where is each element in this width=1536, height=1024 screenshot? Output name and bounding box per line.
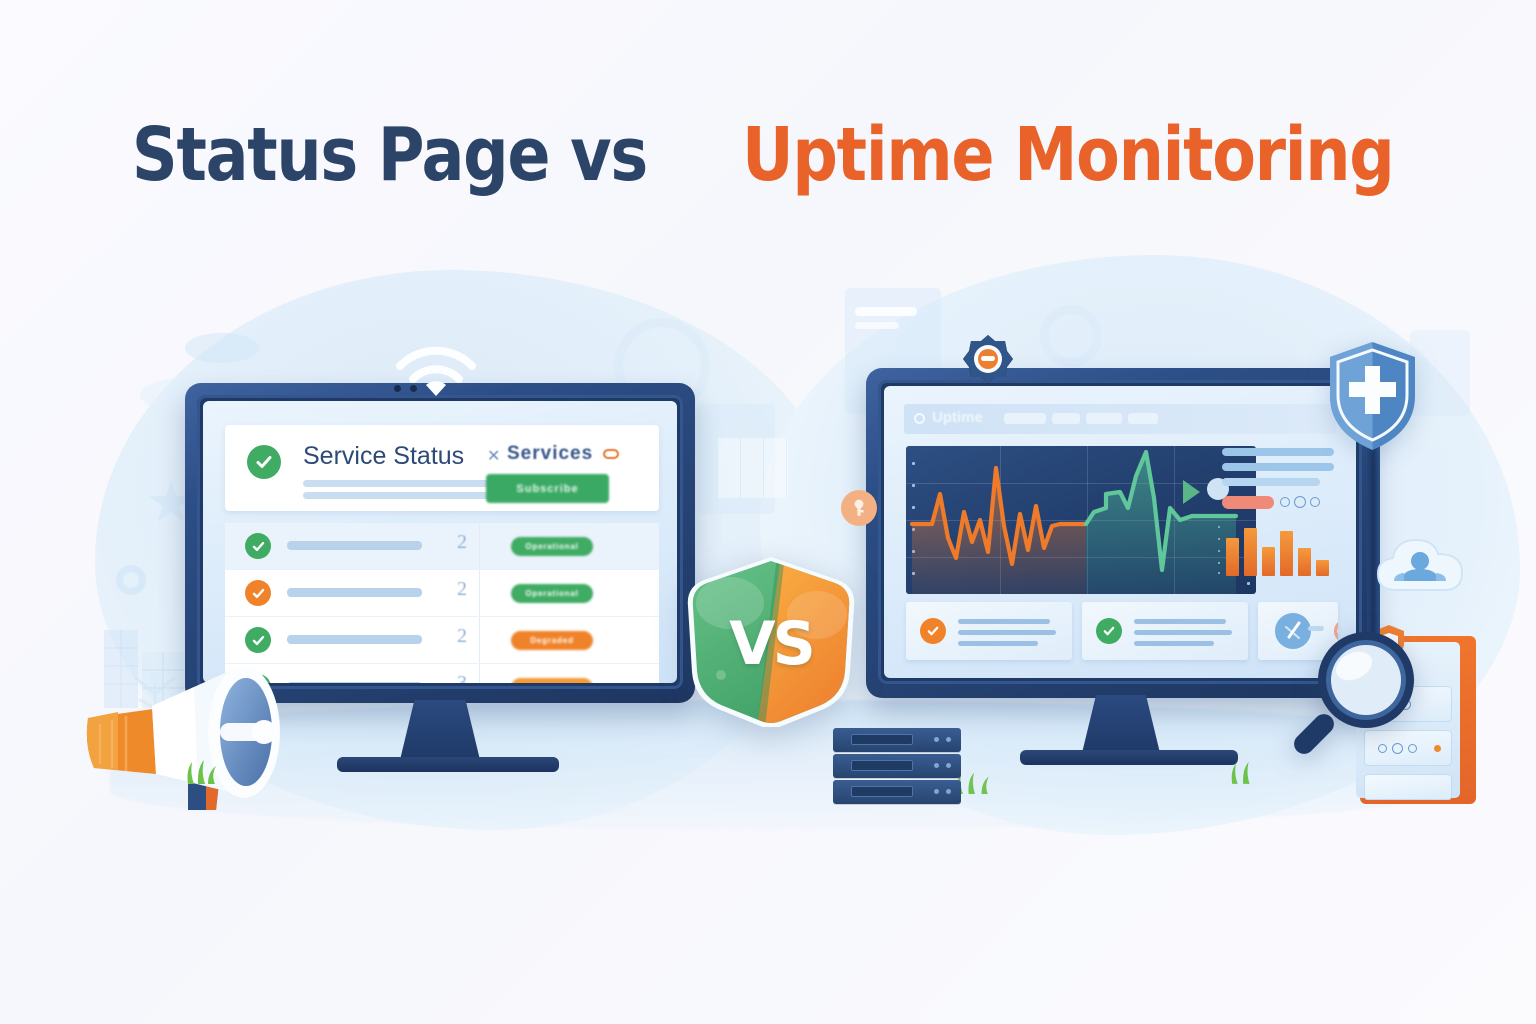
lock-badge-icon bbox=[841, 490, 877, 526]
service-row[interactable]: 2 Operational bbox=[225, 570, 659, 617]
service-count: 2 bbox=[457, 531, 467, 554]
row-divider bbox=[479, 570, 480, 616]
chart-series-svg bbox=[906, 446, 1256, 594]
status-ok-icon bbox=[1096, 618, 1122, 644]
card-text-line bbox=[1134, 630, 1232, 635]
play-triangle-icon[interactable] bbox=[1183, 480, 1200, 504]
title-part-navy: Status Page vs bbox=[132, 118, 647, 192]
monitor-stand-base bbox=[1020, 750, 1238, 765]
page-title: Status Page vs Uptime Monitoring bbox=[0, 118, 1536, 192]
service-status-pill bbox=[511, 678, 593, 683]
server-led-icon bbox=[934, 789, 939, 794]
sidebar-option-circle-icon[interactable] bbox=[1294, 496, 1306, 508]
card-text-line bbox=[958, 619, 1050, 624]
card-text-line bbox=[958, 641, 1038, 646]
service-name-line bbox=[287, 541, 422, 550]
wifi-icon bbox=[392, 338, 480, 400]
service-status-pill: Operational bbox=[511, 537, 593, 556]
subscribe-button[interactable]: Subscribe bbox=[486, 474, 609, 503]
monitor-stand-base bbox=[337, 757, 559, 772]
dashboard-topbar-title: Uptime bbox=[932, 409, 983, 426]
server-drive-slot-icon bbox=[851, 760, 913, 771]
server-stack bbox=[833, 728, 973, 808]
status-page-header-card: Service Status Services ✕ Subscribe bbox=[225, 425, 659, 511]
topbar-tab bbox=[1128, 413, 1158, 424]
server-drive-slot-icon bbox=[851, 786, 913, 797]
uptime-monitoring-screen: Uptime bbox=[884, 386, 1356, 678]
service-count: 2 bbox=[457, 625, 467, 648]
card-text-line bbox=[1134, 641, 1214, 646]
service-status-pill: Degraded bbox=[511, 631, 593, 650]
panel-decor-shape bbox=[855, 322, 899, 329]
cloud-user-icon bbox=[1372, 528, 1468, 600]
check-glyph-icon bbox=[926, 624, 940, 638]
check-glyph-icon bbox=[254, 452, 274, 472]
magnifier-icon bbox=[1288, 628, 1420, 763]
server-unit bbox=[833, 754, 961, 778]
sidebar-option-circle-icon[interactable] bbox=[1310, 497, 1320, 507]
topbar-status-dot-icon bbox=[914, 413, 925, 424]
status-ok-icon bbox=[245, 533, 271, 559]
server-unit bbox=[833, 780, 961, 804]
row-divider bbox=[479, 523, 480, 569]
status-page-brand-text: Services bbox=[507, 443, 593, 465]
metric-card[interactable] bbox=[1082, 602, 1248, 660]
cloud-decor-icon bbox=[185, 333, 259, 363]
dashboard-topbar: Uptime bbox=[904, 404, 1336, 434]
server-led-icon bbox=[946, 763, 951, 768]
gear-badge-icon bbox=[962, 333, 1014, 385]
bar-chart-axis-tick bbox=[1218, 526, 1220, 528]
dashboard-sidebar bbox=[1220, 444, 1338, 594]
chart-series-green-area bbox=[1086, 452, 1236, 594]
sidebar-option-circle-icon[interactable] bbox=[1280, 497, 1290, 507]
bar-chart-bar bbox=[1280, 531, 1293, 576]
response-time-chart[interactable] bbox=[906, 446, 1256, 594]
status-warning-icon bbox=[245, 580, 271, 606]
bar-chart-bar bbox=[1316, 560, 1329, 576]
bar-chart-axis-tick bbox=[1218, 572, 1220, 574]
gear-decor-icon bbox=[116, 565, 146, 595]
status-warning-icon bbox=[920, 618, 946, 644]
bar-chart-axis-tick bbox=[1218, 538, 1220, 540]
server-led-icon bbox=[934, 737, 939, 742]
topbar-tab bbox=[1086, 413, 1122, 424]
status-page-title: Service Status bbox=[303, 442, 464, 471]
rack-slot bbox=[1364, 774, 1452, 800]
server-unit bbox=[833, 728, 961, 752]
bar-chart-axis-tick bbox=[1218, 550, 1220, 552]
megaphone-icon bbox=[60, 628, 325, 818]
topbar-tab bbox=[1052, 413, 1080, 424]
sidebar-text-line bbox=[1222, 478, 1320, 486]
row-divider bbox=[479, 664, 480, 683]
vs-label: VS bbox=[685, 555, 857, 727]
illustration-canvas: Service Status Services ✕ Subscribe 2 Op bbox=[0, 0, 1536, 1024]
row-divider bbox=[479, 617, 480, 663]
service-count: 2 bbox=[457, 578, 467, 601]
status-ok-icon bbox=[247, 445, 281, 479]
service-row[interactable]: 2 Operational bbox=[225, 523, 659, 570]
gear-decor-icon bbox=[1040, 305, 1102, 367]
check-glyph-icon bbox=[251, 586, 266, 601]
key-glyph-icon bbox=[851, 499, 867, 517]
bar-chart-bar bbox=[1244, 528, 1257, 576]
sidebar-highlight-pill[interactable] bbox=[1222, 496, 1274, 509]
sidebar-bar-chart[interactable] bbox=[1222, 520, 1336, 576]
panel-decor-shape bbox=[855, 307, 917, 316]
metric-card[interactable] bbox=[906, 602, 1072, 660]
title-part-orange: Uptime Monitoring bbox=[742, 118, 1394, 192]
bar-chart-bar bbox=[1298, 548, 1311, 576]
grass-decor-icon bbox=[178, 758, 226, 784]
check-glyph-icon bbox=[1102, 624, 1116, 638]
sidebar-text-line bbox=[1222, 448, 1334, 456]
bar-chart-bar bbox=[1226, 538, 1239, 576]
bar-chart-bar bbox=[1262, 547, 1275, 576]
service-status-pill: Operational bbox=[511, 584, 593, 603]
shield-icon bbox=[1325, 340, 1420, 452]
server-drive-slot-icon bbox=[851, 734, 913, 745]
sidebar-text-line bbox=[1222, 463, 1334, 471]
grid-decor-icon bbox=[718, 438, 788, 498]
cloud-decor-icon bbox=[1130, 300, 1250, 344]
server-led-icon bbox=[946, 789, 951, 794]
server-led-icon bbox=[934, 763, 939, 768]
check-glyph-icon bbox=[251, 539, 266, 554]
brand-x-icon: ✕ bbox=[487, 446, 500, 466]
brand-accent-dot bbox=[603, 449, 619, 459]
rack-active-dot-icon bbox=[1434, 745, 1441, 752]
service-name-line bbox=[287, 588, 422, 597]
server-led-icon bbox=[946, 737, 951, 742]
vs-badge: VS bbox=[685, 555, 857, 727]
card-text-line bbox=[1134, 619, 1226, 624]
service-count: 3 bbox=[457, 672, 467, 683]
topbar-tab bbox=[1004, 413, 1046, 424]
card-text-line bbox=[958, 630, 1056, 635]
bar-chart-axis-tick bbox=[1218, 562, 1220, 564]
